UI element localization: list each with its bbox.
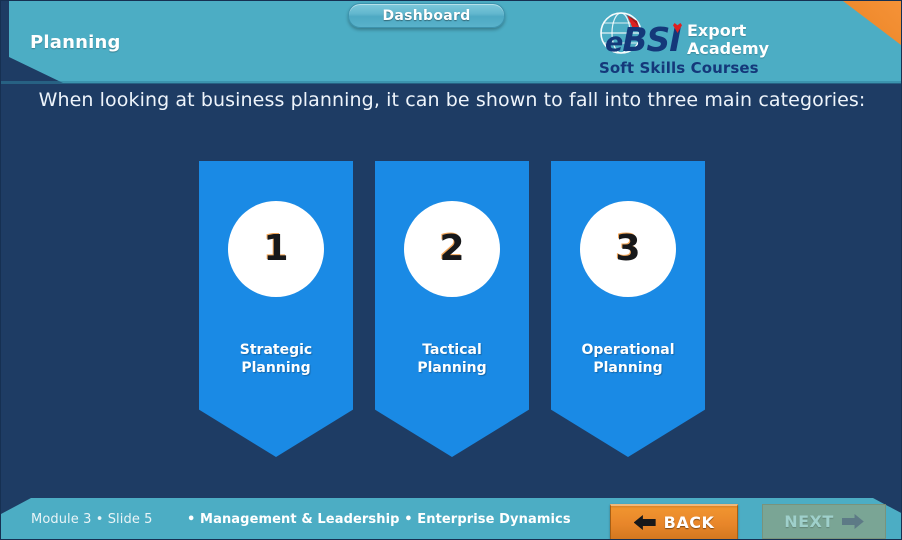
ebsi-logo: eBSI Export Academy Soft Skills Courses [597,9,797,79]
slide-container: Planning Dashboard eBSI Export Academy S… [0,0,902,540]
banner-number: 1 [263,231,288,267]
banner-label: Tactical Planning [375,341,529,377]
logo-line-academy: Academy [687,41,769,57]
banner-strategic-planning[interactable]: 1 Strategic Planning [199,161,353,457]
banner-tactical-planning[interactable]: 2 Tactical Planning [375,161,529,457]
logo-letters-bsi: BSI [622,20,680,59]
logo-tagline: Soft Skills Courses [599,59,759,77]
banner-operational-planning[interactable]: 3 Operational Planning [551,161,705,457]
logo-letter-e: e [605,27,622,58]
banner-label-line2: Planning [375,359,529,377]
banner-label-line2: Planning [199,359,353,377]
next-button[interactable]: NEXT [762,504,886,539]
banner-label-line1: Operational [551,341,705,359]
banner-label-line1: Strategic [199,341,353,359]
dashboard-button[interactable]: Dashboard [348,3,505,28]
banner-number: 2 [439,231,464,267]
banner-group: 1 Strategic Planning 2 Tactical Planning… [1,161,902,461]
header-divider [1,81,902,84]
banner-number-circle: 3 [580,201,676,297]
banner-label: Strategic Planning [199,341,353,377]
banner-number-circle: 1 [228,201,324,297]
banner-number-circle: 2 [404,201,500,297]
back-button[interactable]: BACK [610,504,738,540]
banner-label-line1: Tactical [375,341,529,359]
banner-label: Operational Planning [551,341,705,377]
page-title: Planning [30,32,121,53]
next-button-label: NEXT [784,512,834,531]
arrow-left-icon [634,515,656,530]
course-breadcrumb: • Management & Leadership • Enterprise D… [187,512,571,527]
lead-text: When looking at business planning, it ca… [1,89,902,111]
banner-label-line2: Planning [551,359,705,377]
dashboard-button-label: Dashboard [382,8,470,24]
arrow-right-icon [842,514,864,529]
banner-number: 3 [615,231,640,267]
back-button-label: BACK [664,513,715,532]
logo-line-export: Export [687,23,746,39]
logo-wordmark: eBSI [605,23,681,56]
module-slide-indicator: Module 3 • Slide 5 [31,512,153,527]
